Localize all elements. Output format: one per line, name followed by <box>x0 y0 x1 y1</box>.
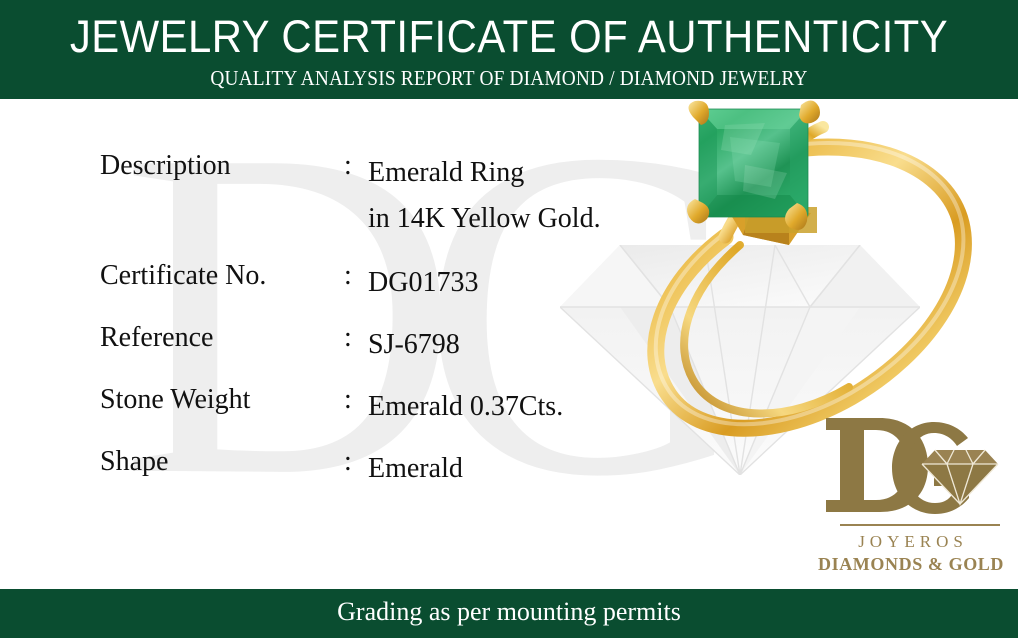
detail-value-line2: in 14K Yellow Gold. <box>368 196 601 242</box>
detail-value: Emerald Ring in 14K Yellow Gold. <box>368 150 601 242</box>
detail-separator: : <box>344 446 352 478</box>
detail-separator: : <box>344 260 352 292</box>
certificate-details: Description : Emerald Ring in 14K Yellow… <box>100 150 620 508</box>
detail-row-description: Description : Emerald Ring in 14K Yellow… <box>100 150 620 260</box>
detail-separator: : <box>344 150 352 182</box>
detail-row-stone-weight: Stone Weight : Emerald 0.37Cts. <box>100 384 620 446</box>
detail-separator: : <box>344 384 352 416</box>
detail-value: SJ-6798 <box>368 322 460 368</box>
detail-label: Shape <box>100 446 168 478</box>
logo-brand-name: JOYEROS <box>818 532 1003 552</box>
certificate-footer: Grading as per mounting permits <box>0 589 1018 638</box>
detail-row-shape: Shape : Emerald <box>100 446 620 508</box>
footer-note: Grading as per mounting permits <box>0 597 1018 627</box>
detail-label: Stone Weight <box>100 384 250 416</box>
detail-value: Emerald <box>368 446 463 492</box>
detail-value: DG01733 <box>368 260 478 306</box>
detail-row-reference: Reference : SJ-6798 <box>100 322 620 384</box>
certificate-header: JEWELRY CERTIFICATE OF AUTHENTICITY QUAL… <box>0 0 1018 99</box>
logo-divider <box>840 524 1000 526</box>
brand-logo: JOYEROS DIAMONDS & GOLD <box>818 408 1003 573</box>
detail-label: Reference <box>100 322 213 354</box>
logo-tagline: DIAMONDS & GOLD <box>818 554 1003 575</box>
dg-monogram-icon <box>818 408 1003 520</box>
detail-value-line1: Emerald Ring <box>368 157 524 188</box>
detail-separator: : <box>344 322 352 354</box>
detail-row-certificate-no: Certificate No. : DG01733 <box>100 260 620 322</box>
detail-label: Description <box>100 150 231 182</box>
emerald-ring-photo <box>575 95 1018 455</box>
jewelry-certificate: DG <box>0 0 1018 638</box>
page-title: JEWELRY CERTIFICATE OF AUTHENTICITY <box>36 13 983 60</box>
detail-label: Certificate No. <box>100 260 266 292</box>
page-subtitle: QUALITY ANALYSIS REPORT OF DIAMOND / DIA… <box>41 66 978 91</box>
detail-value: Emerald 0.37Cts. <box>368 384 563 430</box>
diamond-icon <box>922 450 998 504</box>
